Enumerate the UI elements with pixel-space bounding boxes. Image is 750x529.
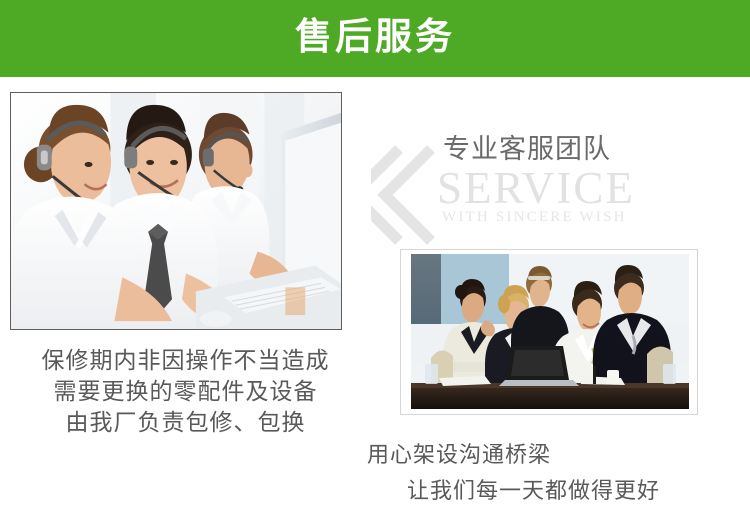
call-center-illustration bbox=[11, 93, 341, 329]
service-tagline: WITH SINCERE WISH bbox=[442, 209, 627, 226]
caption-right-line-2: 让我们每一天都做得更好 bbox=[367, 473, 747, 509]
business-meeting-illustration bbox=[411, 254, 689, 409]
caption-left-line-3: 由我厂负责包修、包换 bbox=[8, 407, 363, 438]
caption-left-line-1: 保修期内非因操作不当造成 bbox=[8, 345, 363, 376]
page-title: 售后服务 bbox=[0, 0, 750, 77]
caption-right-line-1: 用心架设沟通桥梁 bbox=[367, 437, 747, 473]
business-meeting-photo bbox=[411, 254, 689, 409]
team-title: 专业客服团队 bbox=[443, 127, 611, 166]
after-sales-service-banner: 售后服务 bbox=[0, 0, 750, 529]
business-meeting-photo-frame bbox=[400, 249, 698, 415]
double-chevron-left-icon bbox=[371, 143, 437, 247]
caption-right: 用心架设沟通桥梁 让我们每一天都做得更好 bbox=[367, 437, 747, 509]
caption-left: 保修期内非因操作不当造成 需要更换的零配件及设备 由我厂负责包修、包换 bbox=[8, 345, 363, 438]
service-wordmark: SERVICE bbox=[437, 165, 635, 211]
call-center-team-photo bbox=[10, 92, 342, 330]
caption-left-line-2: 需要更换的零配件及设备 bbox=[8, 376, 363, 407]
